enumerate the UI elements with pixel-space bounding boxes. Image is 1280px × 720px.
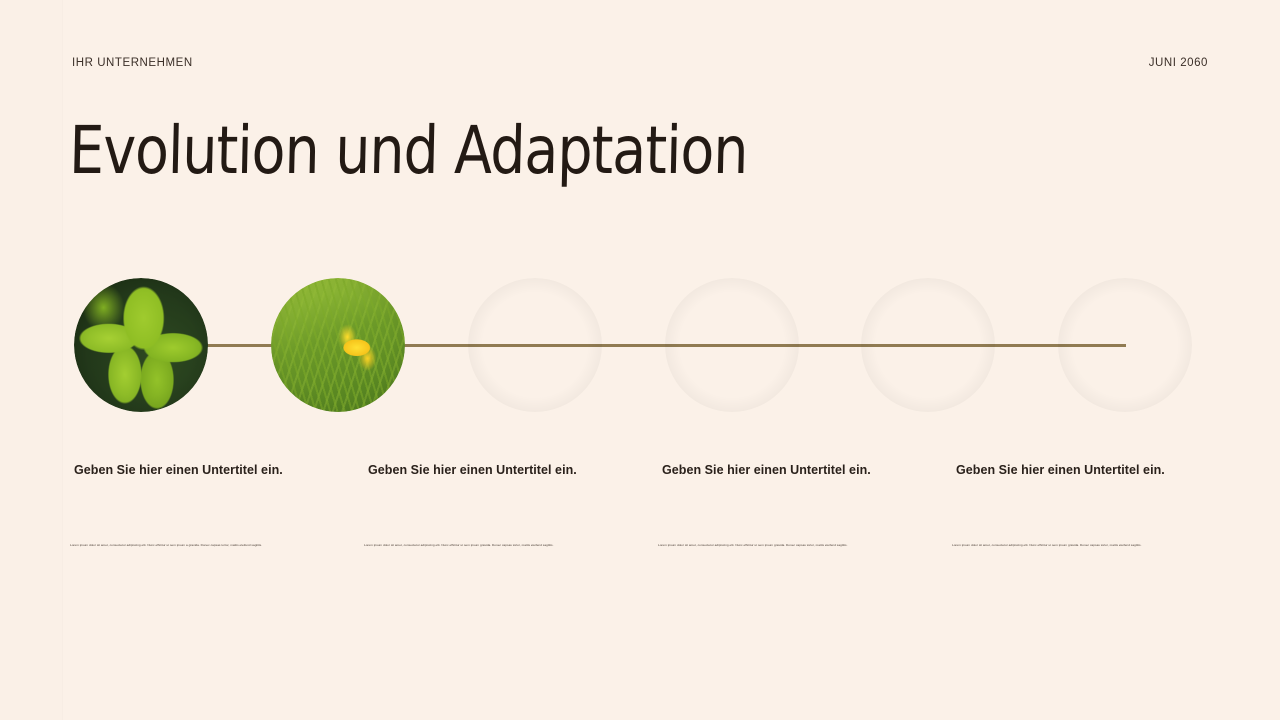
column-caption-1: Geben Sie hier einen Untertitel ein.	[74, 463, 283, 477]
column-body-1: Lorem ipsum dolor sit amet, consectetur …	[70, 543, 282, 548]
column-body-4: Lorem ipsum dolor sit amet, consectetur …	[952, 543, 1164, 548]
timeline-node-2[interactable]	[271, 278, 405, 412]
column-caption-4: Geben Sie hier einen Untertitel ein.	[956, 463, 1165, 477]
presentation-slide: IHR UNTERNEHMEN JUNI 2060 Evolution und …	[0, 0, 1280, 720]
timeline-node-1[interactable]	[74, 278, 208, 412]
slide-date-label: JUNI 2060	[1149, 57, 1208, 69]
column-body-3: Lorem ipsum dolor sit amet, consectetur …	[658, 543, 870, 548]
green-red-berries-photo	[861, 278, 995, 412]
company-name-label: IHR UNTERNEHMEN	[72, 57, 193, 69]
orange-gorse-shrub-photo	[665, 278, 799, 412]
timeline-node-5[interactable]	[861, 278, 995, 412]
white-clover-blossom-photo	[468, 278, 602, 412]
green-foliage-rosette-photo	[74, 278, 208, 412]
slide-header: IHR UNTERNEHMEN JUNI 2060	[72, 54, 1208, 72]
column-caption-3: Geben Sie hier einen Untertitel ein.	[662, 463, 871, 477]
timeline-graphic	[0, 0, 1280, 720]
timeline-node-6[interactable]	[1058, 278, 1192, 412]
yellow-flower-in-grass-photo	[271, 278, 405, 412]
timeline-node-3[interactable]	[468, 278, 602, 412]
column-body-2: Lorem ipsum dolor sit amet, consectetur …	[364, 543, 576, 548]
left-edge-band	[0, 0, 63, 720]
page-title: Evolution und Adaptation	[69, 118, 749, 184]
ivy-umbel-flower-photo	[1058, 278, 1192, 412]
column-caption-2: Geben Sie hier einen Untertitel ein.	[368, 463, 577, 477]
timeline-node-4[interactable]	[665, 278, 799, 412]
